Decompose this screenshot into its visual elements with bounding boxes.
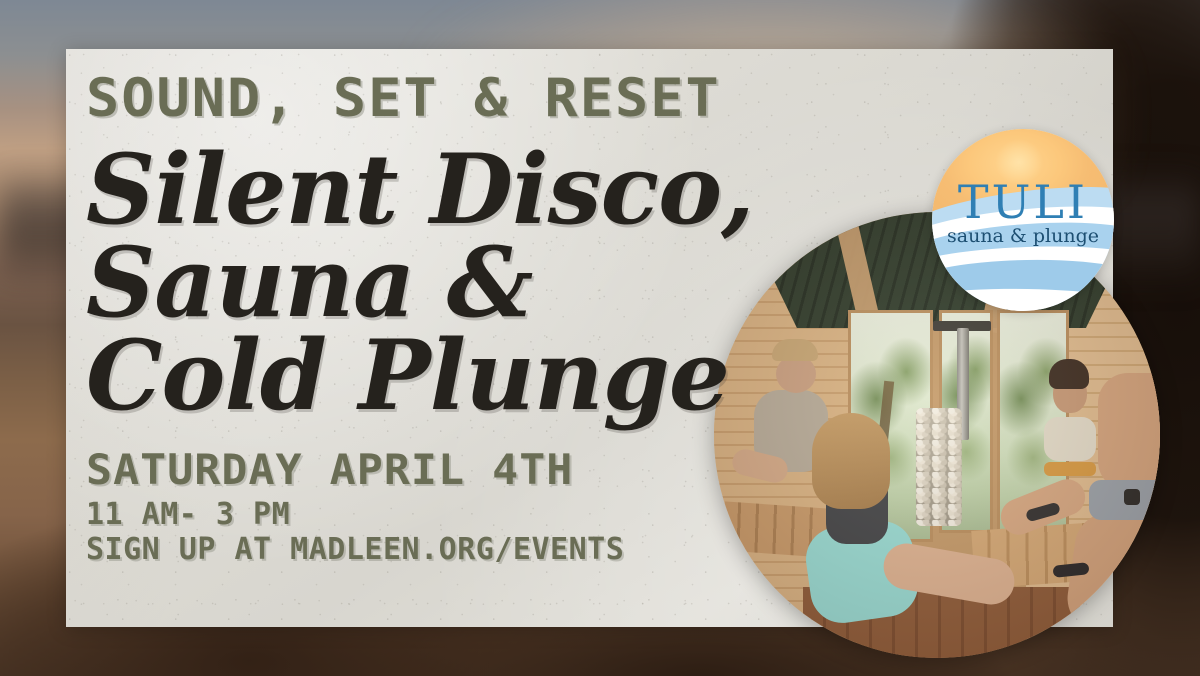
person-three-waistband	[1044, 462, 1096, 476]
headline-line-3: Cold Plunge	[86, 329, 906, 422]
poster-text-block: SOUND, SET & RESET Silent Disco, Sauna &…	[86, 72, 906, 567]
person-four-watch	[1124, 489, 1140, 505]
logo-wordmark: TULI sauna & plunge	[932, 179, 1114, 246]
event-time: 11 AM- 3 PM	[86, 499, 906, 531]
logo-title: TULI	[932, 179, 1114, 225]
person-three-hair	[1049, 359, 1089, 389]
person-four-body	[1098, 373, 1160, 491]
poster-headline: Silent Disco, Sauna & Cold Plunge	[86, 143, 906, 422]
poster-kicker: SOUND, SET & RESET	[86, 72, 939, 125]
headline-line-1: Silent Disco,	[86, 143, 906, 236]
logo-subtitle: sauna & plunge	[932, 227, 1114, 246]
poster-details: SATURDAY APRIL 4TH 11 AM- 3 PM SIGN UP A…	[86, 448, 906, 566]
tuli-logo-badge: TULI sauna & plunge	[932, 129, 1114, 311]
event-date: SATURDAY APRIL 4TH	[86, 448, 931, 493]
event-signup-url: SIGN UP AT MADLEEN.ORG/EVENTS	[86, 534, 906, 566]
headline-line-2: Sauna &	[86, 236, 906, 329]
event-poster: TULI sauna & plunge SOUND, SET & RESET S…	[0, 0, 1200, 676]
person-three-top	[1044, 417, 1096, 461]
